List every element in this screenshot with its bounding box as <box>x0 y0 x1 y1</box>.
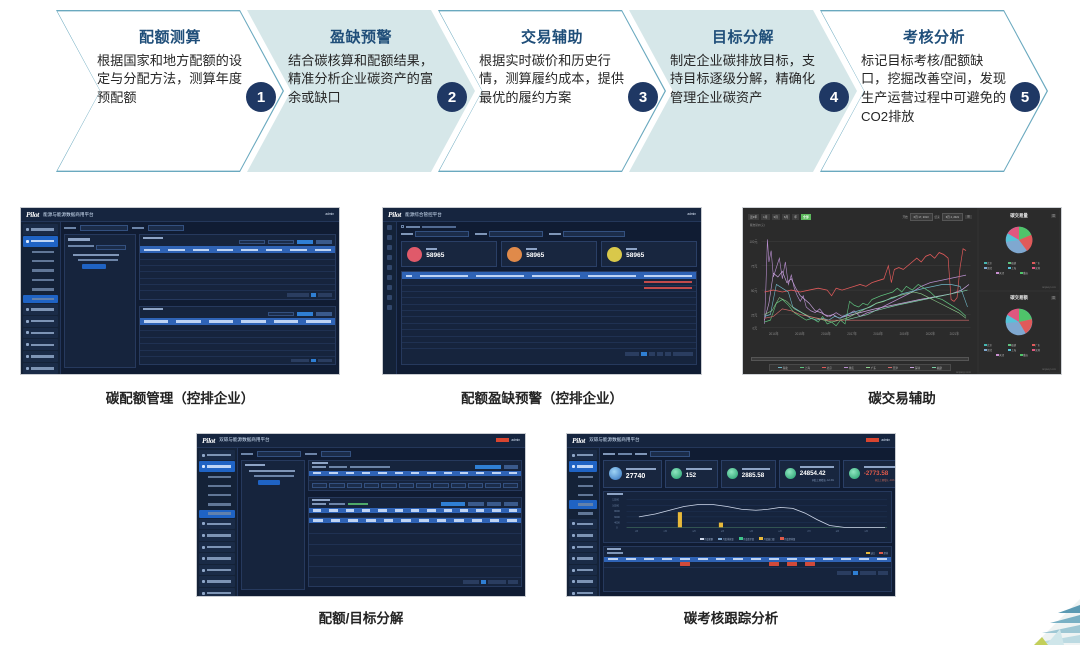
sidebar-item[interactable] <box>23 304 58 315</box>
sidebar-subitem[interactable] <box>23 248 58 256</box>
app-content-2: 58965 58965 58965 <box>397 222 701 374</box>
sidebar-item[interactable] <box>23 351 58 362</box>
step-5-desc: 标记目标考核/配额缺口，挖掘改善空间，发现生产运营过程中可避免的CO2排放 <box>859 52 1009 127</box>
slide-root: 配额测算 根据国家和地方配额的设定与分配方法，测算年度预配额 1 盈缺预警 结合… <box>0 0 1080 645</box>
filter-select[interactable] <box>563 231 625 237</box>
emission-trend-chart-panel[interactable]: 1200010000 80006000 40000 1月2月3月 4月5月6月 … <box>603 491 892 543</box>
warning-table[interactable] <box>401 271 697 365</box>
kpi-card-consumed-quota[interactable]: 24854.42 同比上期增长 -12.1% <box>779 460 840 488</box>
sidebar-icon[interactable] <box>387 275 392 280</box>
monthly-quota-panel[interactable] <box>308 460 522 491</box>
sidebar-item[interactable] <box>569 530 597 541</box>
sidebar-icon[interactable] <box>387 235 392 240</box>
period-button[interactable]: 3月 <box>772 214 780 220</box>
app-window-2: Pilot 能源综合管控平台 admin <box>383 208 701 374</box>
svg-text:75元: 75元 <box>751 264 758 268</box>
app-content-5: 27740 152 2885.58 <box>600 448 895 596</box>
legend-item: 广东 <box>871 367 876 370</box>
sidebar-subitem[interactable] <box>199 500 235 508</box>
sidebar-item[interactable] <box>199 553 235 564</box>
caption-quota-surplus-warning: 配额盈缺预警（控排企业） <box>382 387 702 407</box>
caption-quota-target-decomposition: 配额/目标分解 <box>196 607 526 627</box>
end-date-label: 结束 <box>935 215 940 219</box>
range-scrollbar[interactable] <box>751 357 969 361</box>
decomposition-detail-panel[interactable] <box>308 497 522 587</box>
sidebar-icon[interactable] <box>387 245 392 250</box>
indicator-icon <box>671 468 682 479</box>
step-4-title: 目标分解 <box>668 28 818 48</box>
kpi-label <box>626 468 656 470</box>
step-2-content: 盈缺预警 结合碳核算和配额结果，精准分析企业碳资产的富余或缺口 <box>286 28 436 108</box>
header-user-area-2: admin <box>687 212 696 217</box>
breadcrumb-2 <box>401 225 697 228</box>
svg-text:7月: 7月 <box>807 529 810 533</box>
pie-legend-item: 重庆 <box>1023 272 1028 275</box>
reset-button[interactable] <box>504 465 518 469</box>
svg-text:2016年: 2016年 <box>821 331 831 337</box>
pie-legend-item: 广东 <box>1035 344 1040 347</box>
legend-item: 深圳 <box>915 367 920 370</box>
header-user-area-1: admin <box>325 212 334 217</box>
filter-input[interactable] <box>80 225 128 231</box>
pie-legend-volume: 北京 福建 广东 湖北 上海 深圳 天津 重庆 <box>982 261 1056 275</box>
screenshot-carbon-trading-chart[interactable]: 近3年 1月 3月 6月 年 全部 开始 6月 17, 2013 结束 6月 4… <box>742 207 1062 375</box>
filter-select[interactable] <box>257 451 301 457</box>
screenshot-carbon-assessment-tracking[interactable]: Pilot 双碳与能源数据商用平台 admin <box>566 433 896 597</box>
table-row[interactable] <box>309 556 521 567</box>
kpi-value: 2885.58 <box>742 473 770 479</box>
svg-text:4月: 4月 <box>721 529 724 533</box>
kpi-value: 152 <box>686 473 712 479</box>
sidebar-item[interactable] <box>23 316 58 327</box>
alert-chip-icon <box>496 438 509 442</box>
kpi-card-row-5: 27740 152 2885.58 <box>603 460 892 488</box>
svg-text:6000: 6000 <box>614 516 620 519</box>
sidebar-item-active[interactable] <box>23 236 58 247</box>
pie-legend-item: 北京 <box>987 262 992 265</box>
kpi-label <box>626 248 637 250</box>
app-header-4: Pilot 双碳与能源数据商用平台 admin <box>197 434 525 448</box>
app-content-1 <box>61 222 339 374</box>
table-row[interactable] <box>309 523 521 534</box>
step-3-desc: 根据实时碳价和历史行情，测算履约成本，提供最优的履约方案 <box>477 52 627 108</box>
search-button[interactable] <box>487 502 501 506</box>
brand-logo-1: Pilot <box>26 210 39 219</box>
sidebar-item[interactable] <box>199 450 235 461</box>
pie-legend-item: 天津 <box>999 354 1004 357</box>
brand-logo-4: Pilot <box>202 436 215 445</box>
corner-decoration <box>1006 599 1080 645</box>
reset-button[interactable] <box>504 502 518 506</box>
line-chart-panel: 近3年 1月 3月 6月 年 全部 开始 6月 17, 2013 结束 6月 4… <box>743 208 977 374</box>
app-title-5: 双碳与能源数据商用平台 <box>589 437 640 443</box>
table-filter[interactable] <box>268 240 294 244</box>
kpi-card-row: 58965 58965 58965 <box>401 241 697 267</box>
pie-legend-item: 福建 <box>1011 262 1016 265</box>
user-name-5[interactable]: admin <box>881 438 890 442</box>
app-sidebar-5[interactable] <box>567 448 600 596</box>
pie-legend-item: 天津 <box>999 272 1004 275</box>
step-4-badge: 4 <box>819 82 849 112</box>
screenshot-carbon-quota-management[interactable]: Pilot 能源与能源数据商用平台 admin <box>20 207 340 375</box>
sidebar-item[interactable] <box>199 576 235 587</box>
legend-item: 北京 <box>827 367 832 370</box>
process-step-5[interactable]: 考核分析 标记目标考核/配额缺口，挖掘改善空间，发现生产运营过程中可避免的CO2… <box>820 10 1048 172</box>
sidebar-item[interactable] <box>23 224 58 235</box>
filter-select[interactable] <box>321 451 351 457</box>
pie-legend-item: 上海 <box>1011 267 1016 270</box>
assessment-table[interactable]: 缺口 超排 <box>603 546 892 592</box>
kpi-trend: 同比上期增长 -12.1% <box>800 478 834 482</box>
warning-coin-icon <box>607 247 622 262</box>
caption-carbon-trading: 碳交易辅助 <box>742 387 1062 407</box>
menu-icon[interactable]: ☰ <box>1051 296 1056 300</box>
legend-item: 重庆 <box>849 367 854 370</box>
pagination[interactable] <box>604 568 891 578</box>
app-title-4: 双碳与能源数据商用平台 <box>219 437 270 443</box>
app-header-1: Pilot 能源与能源数据商用平台 admin <box>21 208 339 222</box>
svg-text:2019年: 2019年 <box>900 331 910 337</box>
svg-text:8月: 8月 <box>836 529 839 533</box>
chart-toolbar[interactable]: 近3年 1月 3月 6月 年 全部 开始 6月 17, 2013 结束 6月 4… <box>748 213 972 221</box>
menu-icon[interactable]: ☰ <box>965 215 972 219</box>
sidebar-subitem[interactable] <box>23 285 58 293</box>
legend-item: 湖北 <box>783 367 788 370</box>
warning-coin-icon <box>507 247 522 262</box>
table-row[interactable] <box>309 545 521 556</box>
emission-icon <box>727 468 738 479</box>
kpi-label <box>800 466 834 468</box>
pie-legend-item: 深圳 <box>1035 267 1040 270</box>
app-window-1: Pilot 能源与能源数据商用平台 admin <box>21 208 339 374</box>
sidebar-subitem[interactable] <box>199 491 235 499</box>
kpi-label <box>686 468 712 470</box>
pie-legend-item: 湖北 <box>987 349 992 352</box>
sidebar-subitem[interactable] <box>569 473 597 481</box>
start-date-input[interactable]: 6月 17, 2013 <box>910 213 933 221</box>
trend-legend[interactable]: 月度配额 月度排放量 月度盈余量 月度缺口量 月度超排量 <box>604 537 891 541</box>
sidebar-item[interactable] <box>569 553 597 564</box>
step-5-badge: 5 <box>1010 82 1040 112</box>
filter-select[interactable] <box>489 231 543 237</box>
brand-logo-2: Pilot <box>388 210 401 219</box>
sidebar-icon[interactable] <box>387 305 392 310</box>
sidebar-item[interactable] <box>569 588 597 597</box>
pie-legend-item: 广东 <box>1035 262 1040 265</box>
app-sidebar-1[interactable] <box>21 222 61 374</box>
svg-text:5月: 5月 <box>749 529 752 533</box>
reset-button[interactable] <box>316 312 332 316</box>
reset-button[interactable] <box>316 240 332 244</box>
step-2-desc: 结合碳核算和配额结果，精准分析企业碳资产的富余或缺口 <box>286 52 436 108</box>
chart-window: 近3年 1月 3月 6月 年 全部 开始 6月 17, 2013 结束 6月 4… <box>743 208 1061 374</box>
sidebar-item[interactable] <box>569 450 597 461</box>
sidebar-item[interactable] <box>199 565 235 576</box>
app-window-5: Pilot 双碳与能源数据商用平台 admin <box>567 434 895 596</box>
app-sidebar-4[interactable] <box>197 448 238 596</box>
kpi-label <box>742 468 770 470</box>
search-button[interactable] <box>297 240 313 244</box>
pie-legend-item: 北京 <box>987 344 992 347</box>
menu-icon[interactable]: ☰ <box>1051 214 1056 218</box>
sidebar-icon[interactable] <box>387 285 392 290</box>
user-name-1[interactable]: admin <box>325 212 334 216</box>
svg-text:50元: 50元 <box>751 289 758 293</box>
header-user-area-5: admin <box>866 438 890 443</box>
pie-title: 碳交易额 <box>1010 295 1028 301</box>
start-date-label: 开始 <box>902 215 907 219</box>
emission-trend-chart: 1200010000 80006000 40000 1月2月3月 4月5月6月 … <box>604 496 891 534</box>
pie-legend-amount: 北京 福建 广东 湖北 上海 深圳 天津 重庆 <box>982 343 1056 357</box>
header-user-area-4: admin <box>496 438 520 443</box>
period-button-active[interactable]: 全部 <box>801 214 811 220</box>
table-filter[interactable] <box>268 312 294 316</box>
step-4-content: 目标分解 制定企业碳排放目标，支持目标逐级分解，精确化管理企业碳资产 <box>668 28 818 108</box>
step-1-title: 配额测算 <box>95 28 245 48</box>
price-line-chart: 100元75元 50元25元 0元 2014年2015年 2016年2017年 … <box>748 230 972 338</box>
chart-y-axis-label: 碳交易价(元) <box>750 223 972 227</box>
sidebar-icon[interactable] <box>387 255 392 260</box>
svg-text:2014年: 2014年 <box>769 331 779 337</box>
warning-coin-icon <box>407 247 422 262</box>
svg-text:9月: 9月 <box>864 529 867 533</box>
process-chevron-bar: 配额测算 根据国家和地方配额的设定与分配方法，测算年度预配额 1 盈缺预警 结合… <box>0 0 1080 182</box>
sidebar-item[interactable] <box>23 339 58 350</box>
pagination[interactable] <box>140 291 335 299</box>
table-filter[interactable] <box>239 240 265 244</box>
quota-table-upper[interactable] <box>139 234 336 300</box>
sidebar-item[interactable] <box>569 542 597 553</box>
quota-table-lower[interactable] <box>139 306 336 365</box>
kpi-card-cumulative-emission[interactable]: 2885.58 <box>721 460 776 488</box>
sidebar-icon[interactable] <box>387 265 392 270</box>
kpi-card-annual-quota[interactable]: 27740 <box>603 460 662 488</box>
pie-title: 碳交易量 <box>1010 213 1028 219</box>
sidebar-item[interactable] <box>199 588 235 597</box>
svg-text:0元: 0元 <box>752 326 757 330</box>
step-1-content: 配额测算 根据国家和地方配额的设定与分配方法，测算年度预配额 <box>95 28 245 108</box>
kpi-card-remaining-quota[interactable]: -2773.58 同比上期增长 -103.4% <box>843 460 896 488</box>
sidebar-item[interactable] <box>569 565 597 576</box>
filter-select[interactable] <box>415 231 469 237</box>
table-row[interactable] <box>309 534 521 545</box>
pie-legend-item: 福建 <box>1011 344 1016 347</box>
screenshot-quota-target-decomposition[interactable]: Pilot 双碳与能源数据商用平台 admin <box>196 433 526 597</box>
sidebar-item[interactable] <box>199 530 235 541</box>
pie-legend-item: 深圳 <box>1035 349 1040 352</box>
svg-text:1月: 1月 <box>635 529 638 533</box>
app-header-2: Pilot 能源综合管控平台 admin <box>383 208 701 222</box>
month-input-row[interactable] <box>309 481 521 490</box>
svg-text:2月: 2月 <box>663 529 666 533</box>
app-content-4 <box>238 448 525 596</box>
kpi-label <box>864 466 896 468</box>
table-header-row <box>140 318 335 325</box>
sidebar-icon[interactable] <box>387 225 392 230</box>
kpi-value: 58965 <box>426 253 444 260</box>
sidebar-item[interactable] <box>23 363 58 374</box>
period-button[interactable]: 1月 <box>761 214 769 220</box>
screenshot-quota-surplus-warning[interactable]: Pilot 能源综合管控平台 admin <box>382 207 702 375</box>
pie-panel-amount: 碳交易额 ☰ 北京 福建 广东 湖北 <box>979 292 1059 372</box>
pie-panel-volume: 碳交易量 ☰ 北京 福建 广东 湖北 <box>979 210 1059 290</box>
sidebar-item[interactable] <box>23 328 58 339</box>
kpi-card[interactable]: 58965 <box>501 241 597 267</box>
kpi-value: 27740 <box>626 473 656 480</box>
app-title-2: 能源综合管控平台 <box>405 212 442 218</box>
svg-text:25元: 25元 <box>751 313 758 317</box>
sidebar-icon[interactable] <box>387 295 392 300</box>
period-button[interactable]: 6月 <box>782 214 790 220</box>
pie-legend-item: 上海 <box>1011 349 1016 352</box>
filter-label <box>64 227 76 229</box>
svg-text:0: 0 <box>616 526 618 529</box>
sidebar-item[interactable] <box>569 576 597 587</box>
kpi-label <box>426 248 437 250</box>
save-button[interactable] <box>475 465 501 469</box>
watermark: tanjiaoyi.com <box>1042 368 1056 371</box>
year-select[interactable] <box>650 451 690 457</box>
alert-chip-icon <box>866 438 879 442</box>
search-button[interactable] <box>297 312 313 316</box>
table-header-row <box>140 246 335 253</box>
brand-logo-5: Pilot <box>572 436 585 445</box>
step-3-content: 交易辅助 根据实时碳价和历史行情，测算履约成本，提供最优的履约方案 <box>477 28 627 108</box>
filter-label <box>132 227 144 229</box>
caption-carbon-assessment-tracking: 碳考核跟踪分析 <box>566 607 896 627</box>
svg-text:2018年: 2018年 <box>873 331 883 337</box>
quota-icon <box>609 467 622 480</box>
sidebar-item[interactable] <box>199 542 235 553</box>
svg-text:12000: 12000 <box>612 499 620 502</box>
kpi-trend: 同比上期增长 -103.4% <box>864 478 896 482</box>
legend-item: 福建 <box>937 367 942 370</box>
svg-text:4000: 4000 <box>614 521 620 524</box>
pagination[interactable] <box>402 349 696 359</box>
svg-text:100元: 100元 <box>749 240 757 244</box>
step-3-title: 交易辅助 <box>477 28 627 48</box>
chart-legend[interactable]: 湖北 上海 北京 重庆 广东 天津 深圳 福建 <box>769 364 951 371</box>
sidebar-subitem-active[interactable] <box>569 500 597 508</box>
pagination[interactable] <box>140 357 335 365</box>
watermark: tanjiaoyi.com <box>1042 286 1056 289</box>
legend-item: 上海 <box>805 367 810 370</box>
batch-button[interactable] <box>441 502 465 506</box>
app-header-5: Pilot 双碳与能源数据商用平台 admin <box>567 434 895 448</box>
kpi-value: 24854.42 <box>800 471 834 477</box>
sidebar-subitem[interactable] <box>569 482 597 490</box>
user-name-2[interactable]: admin <box>687 212 696 216</box>
step-2-title: 盈缺预警 <box>286 28 436 48</box>
pie-chart-volume <box>1000 221 1038 259</box>
kpi-card[interactable]: 58965 <box>601 241 697 267</box>
step-5-title: 考核分析 <box>859 28 1009 48</box>
pagination[interactable] <box>309 578 521 586</box>
sidebar-subitem[interactable] <box>199 473 235 481</box>
sidebar-subitem[interactable] <box>23 276 58 284</box>
org-tree-panel[interactable] <box>241 460 305 590</box>
pie-legend-item: 重庆 <box>1023 354 1028 357</box>
svg-text:8000: 8000 <box>614 510 620 513</box>
kpi-card[interactable]: 58965 <box>401 241 497 267</box>
user-name-4[interactable]: admin <box>511 438 520 442</box>
legend-item: 天津 <box>893 367 898 370</box>
table-row[interactable] <box>309 567 521 578</box>
kpi-card-indicator-count[interactable]: 152 <box>665 460 718 488</box>
sidebar-subitem[interactable] <box>23 257 58 265</box>
svg-text:6月: 6月 <box>778 529 781 533</box>
sidebar-subitem[interactable] <box>199 482 235 490</box>
period-button[interactable]: 近3年 <box>748 214 759 220</box>
step-5-content: 考核分析 标记目标考核/配额缺口，挖掘改善空间，发现生产运营过程中可避免的CO2… <box>859 28 1009 126</box>
svg-text:2015年: 2015年 <box>795 331 805 337</box>
svg-text:2017年: 2017年 <box>847 331 857 337</box>
consumed-icon <box>785 468 796 479</box>
export-button[interactable] <box>468 502 484 506</box>
end-date-input[interactable]: 6月 4, 2021 <box>942 213 963 221</box>
svg-text:2020年: 2020年 <box>926 331 936 337</box>
period-button[interactable]: 年 <box>792 214 799 220</box>
app-window-4: Pilot 双碳与能源数据商用平台 admin <box>197 434 525 596</box>
sidebar-subitem-active[interactable] <box>199 510 235 518</box>
pie-chart-amount <box>1000 303 1038 341</box>
sidebar-item[interactable] <box>569 519 597 530</box>
sidebar-item-active[interactable] <box>199 461 235 472</box>
step-4-desc: 制定企业碳排放目标，支持目标逐级分解，精确化管理企业碳资产 <box>668 52 818 108</box>
kpi-value: -2773.58 <box>864 471 896 477</box>
step-2-badge: 2 <box>437 82 467 112</box>
step-1-desc: 根据国家和地方配额的设定与分配方法，测算年度预配额 <box>95 52 245 108</box>
step-1-badge: 1 <box>246 82 276 112</box>
sidebar-item[interactable] <box>199 519 235 530</box>
step-3-badge: 3 <box>628 82 658 112</box>
svg-text:10000: 10000 <box>612 504 620 507</box>
app-title-1: 能源与能源数据商用平台 <box>43 212 94 218</box>
kpi-value: 58965 <box>626 253 644 260</box>
pie-legend-item: 湖北 <box>987 267 992 270</box>
watermark: tanjiaoyi.com <box>956 371 971 374</box>
sidebar-subitem[interactable] <box>23 266 58 274</box>
sidebar-subitem-active[interactable] <box>23 295 58 303</box>
filter-select[interactable] <box>148 225 184 231</box>
sidebar-subitem[interactable] <box>569 510 597 518</box>
remaining-icon <box>849 468 860 479</box>
svg-text:2021年: 2021年 <box>950 331 960 337</box>
app-sidebar-2[interactable] <box>383 222 397 374</box>
sidebar-item-active[interactable] <box>569 461 597 472</box>
table-header-row <box>402 272 696 279</box>
pie-column: 碳交易量 ☰ 北京 福建 广东 湖北 <box>977 208 1061 374</box>
sidebar-subitem[interactable] <box>569 491 597 499</box>
caption-carbon-quota-management: 碳配额管理（控排企业） <box>20 387 340 407</box>
kpi-label <box>526 248 537 250</box>
filter-bar-2[interactable] <box>401 231 697 237</box>
kpi-value: 58965 <box>526 253 544 260</box>
svg-text:3月: 3月 <box>692 529 695 533</box>
tree-panel[interactable] <box>64 234 136 368</box>
